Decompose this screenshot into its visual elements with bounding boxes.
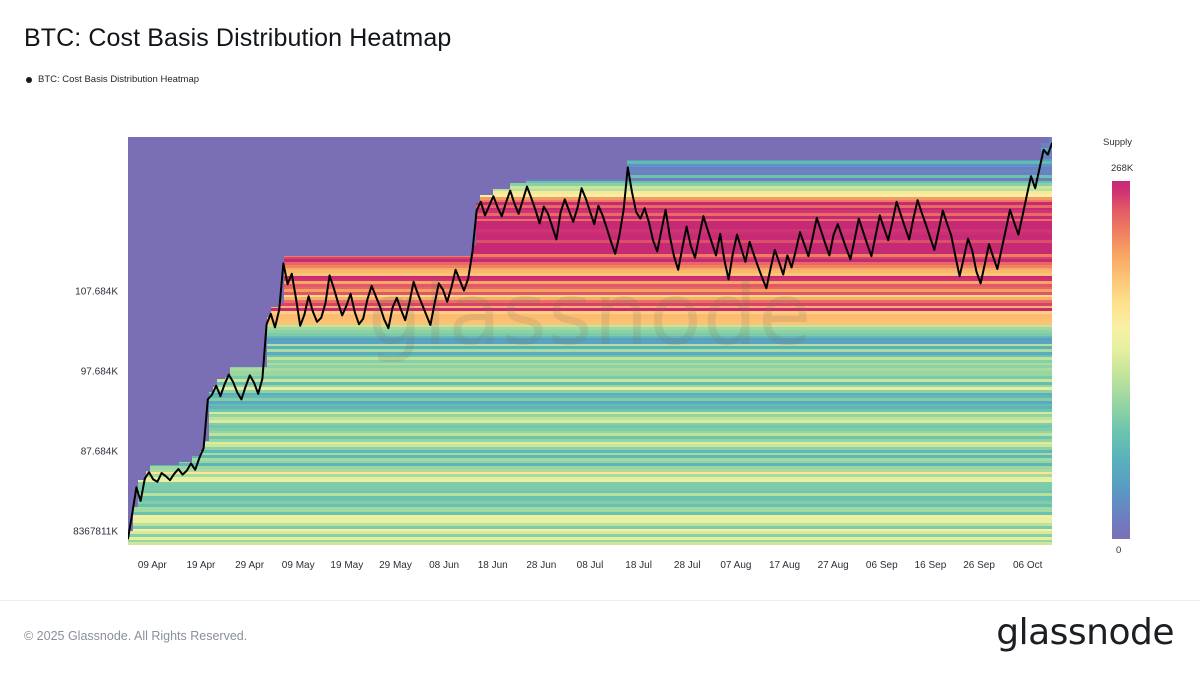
x-axis-tick-label: 19 Apr: [186, 560, 215, 571]
y-axis-tick-label: 87.684K: [81, 446, 118, 457]
x-axis-tick-label: 17 Aug: [769, 560, 800, 571]
y-axis-tick-label: 8367811K: [73, 526, 118, 537]
x-axis-tick-label: 07 Aug: [720, 560, 751, 571]
x-axis: 09 Apr19 Apr29 Apr09 May19 May29 May08 J…: [128, 560, 1052, 578]
x-axis-tick-label: 16 Sep: [915, 560, 947, 571]
y-axis-tick-label: 107.684K: [75, 286, 118, 297]
copyright-text: © 2025 Glassnode. All Rights Reserved.: [24, 629, 247, 643]
colorbar-max-label: 268K: [1111, 163, 1133, 174]
chart-legend[interactable]: BTC: Cost Basis Distribution Heatmap: [26, 74, 199, 85]
colorbar-title: Supply: [1103, 137, 1132, 148]
price-line-series: [128, 137, 1052, 545]
y-axis: 107.684K97.684K87.684K8367811K: [18, 137, 118, 545]
x-axis-tick-label: 18 Jun: [478, 560, 508, 571]
x-axis-tick-label: 28 Jul: [674, 560, 701, 571]
glassnode-logo: glassnode: [996, 612, 1174, 653]
heatmap-plot-area[interactable]: glassnode: [128, 137, 1052, 545]
legend-marker-icon: [26, 77, 32, 83]
x-axis-tick-label: 29 May: [379, 560, 412, 571]
colorbar: Supply 268K 0: [1103, 137, 1193, 567]
x-axis-tick-label: 19 May: [330, 560, 363, 571]
y-axis-tick-label: 97.684K: [81, 366, 118, 377]
x-axis-tick-label: 08 Jun: [429, 560, 459, 571]
x-axis-tick-label: 06 Oct: [1013, 560, 1042, 571]
x-axis-tick-label: 28 Jun: [526, 560, 556, 571]
x-axis-tick-label: 08 Jul: [577, 560, 604, 571]
x-axis-tick-label: 29 Apr: [235, 560, 264, 571]
footer-divider: [0, 600, 1200, 601]
x-axis-tick-label: 06 Sep: [866, 560, 898, 571]
x-axis-tick-label: 27 Aug: [818, 560, 849, 571]
legend-item-label: BTC: Cost Basis Distribution Heatmap: [38, 74, 199, 85]
colorbar-gradient: [1112, 181, 1130, 539]
x-axis-tick-label: 09 Apr: [138, 560, 167, 571]
x-axis-tick-label: 26 Sep: [963, 560, 995, 571]
x-axis-tick-label: 18 Jul: [625, 560, 652, 571]
colorbar-min-label: 0: [1116, 545, 1121, 556]
page-title: BTC: Cost Basis Distribution Heatmap: [24, 24, 451, 53]
x-axis-tick-label: 09 May: [282, 560, 315, 571]
